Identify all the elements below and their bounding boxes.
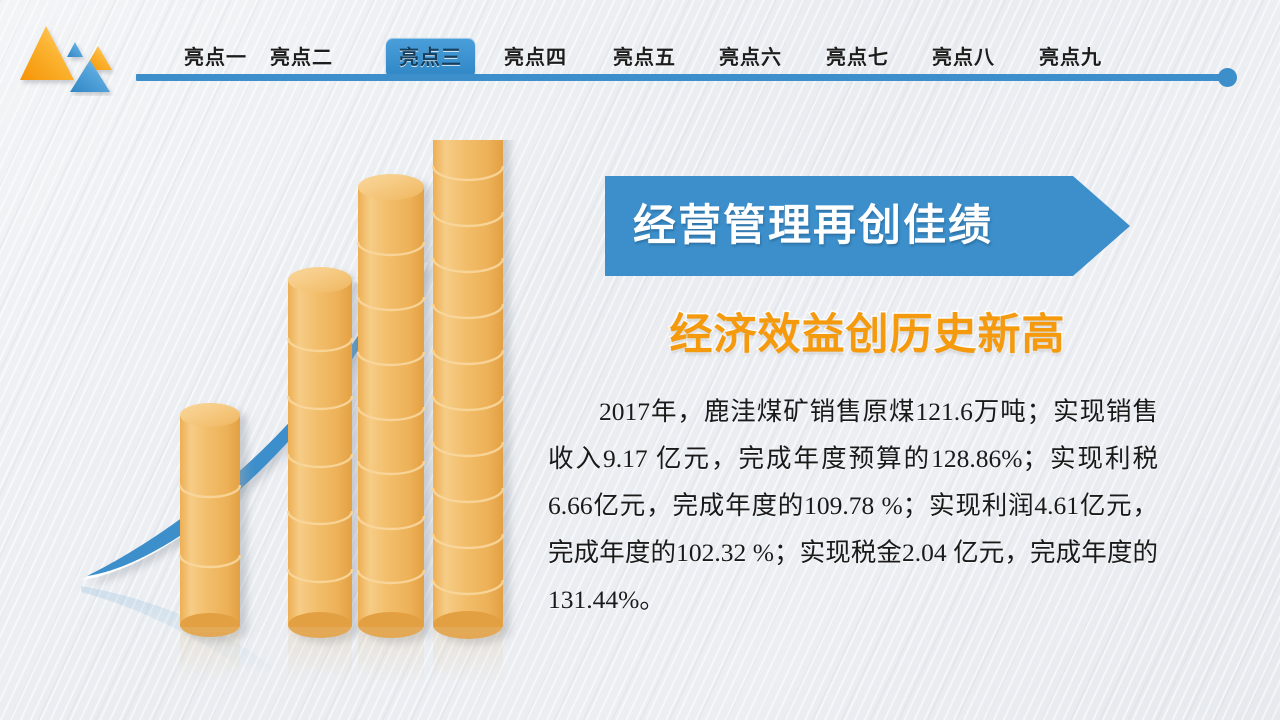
body-paragraph: 2017年，鹿洼煤矿销售原煤121.6万吨；实现销售收入9.17 亿元，完成年度… [548,388,1158,623]
banner-title-shape: 经营管理再创佳绩 [605,176,1130,276]
nav-progress-dot [1218,68,1237,87]
mountain-triangles-logo [18,20,128,96]
presentation-slide: 亮点一 亮点二 亮点三 亮点四 亮点五 亮点六 亮点七 亮点八 亮点九 [0,0,1280,720]
large-orange-triangle [20,26,74,80]
nav-item-6[interactable]: 亮点六 [719,38,782,78]
nav-item-8[interactable]: 亮点八 [932,38,995,78]
arrow-reflection [81,586,272,674]
coin-reflections [180,627,503,680]
nav-progress-line [136,74,1228,81]
nav-item-7[interactable]: 亮点七 [826,38,889,78]
small-blue-triangle [67,42,83,57]
nav-item-1[interactable]: 亮点一 [184,38,247,78]
growth-arrow-and-coin-stacks [40,140,560,680]
subtitle: 经济效益创历史新高 [605,300,1130,362]
page-title: 经营管理再创佳绩 [633,176,993,276]
nav-item-9[interactable]: 亮点九 [1039,38,1102,78]
coin-stack-4 [433,140,503,639]
nav-item-4[interactable]: 亮点四 [504,38,567,78]
coin-stack-1 [180,403,240,637]
nav-item-5[interactable]: 亮点五 [613,38,676,78]
nav-item-2[interactable]: 亮点二 [270,38,333,78]
nav-item-3-active[interactable]: 亮点三 [386,38,475,78]
coin-stack-2 [288,267,352,638]
coin-stack-3 [358,174,424,638]
